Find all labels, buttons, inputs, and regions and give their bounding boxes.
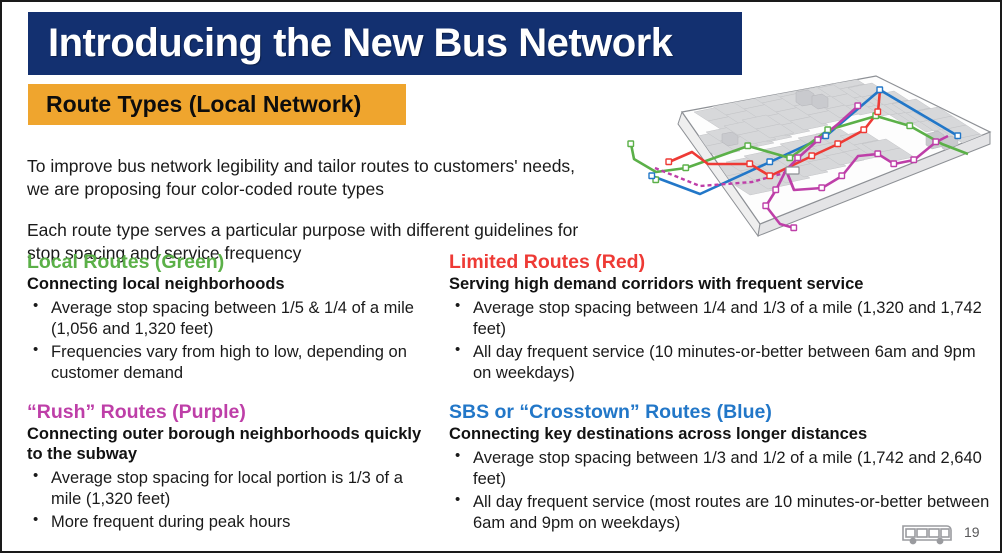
route-type-title-sbs: SBS or “Crosstown” Routes (Blue): [449, 401, 994, 423]
route-type-bullets-rush: Average stop spacing for local portion i…: [27, 468, 437, 532]
route-type-bullets-local: Average stop spacing between 1/5 & 1/4 o…: [27, 298, 437, 383]
list-item: Average stop spacing between 1/5 & 1/4 o…: [27, 298, 437, 340]
list-item: Average stop spacing between 1/3 and 1/2…: [449, 448, 994, 490]
route-type-bullets-limited: Average stop spacing between 1/4 and 1/3…: [449, 298, 994, 383]
route-type-subtitle-sbs: Connecting key destinations across longe…: [449, 425, 994, 445]
list-item: Average stop spacing for local portion i…: [27, 468, 437, 510]
list-item: More frequent during peak hours: [27, 512, 437, 533]
slide-canvas: Introducing the New Bus Network Route Ty…: [0, 0, 1002, 553]
route-type-subtitle-limited: Serving high demand corridors with frequ…: [449, 275, 994, 295]
route-type-title-rush: “Rush” Routes (Purple): [27, 401, 437, 423]
route-type-local: Local Routes (Green) Connecting local ne…: [27, 251, 437, 385]
slide-subtitle-banner: Route Types (Local Network): [28, 84, 406, 125]
intro-paragraph-1: To improve bus network legibility and ta…: [27, 155, 587, 202]
route-type-limited: Limited Routes (Red) Serving high demand…: [449, 251, 994, 385]
page-number: 19: [964, 524, 980, 540]
route-type-sbs: SBS or “Crosstown” Routes (Blue) Connect…: [449, 401, 994, 535]
bus-icon: [900, 521, 954, 552]
list-item: All day frequent service (10 minutes-or-…: [449, 342, 994, 384]
route-type-rush: “Rush” Routes (Purple) Connecting outer …: [27, 401, 437, 534]
route-type-title-limited: Limited Routes (Red): [449, 251, 994, 273]
route-type-title-local: Local Routes (Green): [27, 251, 437, 273]
page-title: Introducing the New Bus Network: [48, 21, 673, 66]
route-type-subtitle-local: Connecting local neighborhoods: [27, 275, 437, 295]
list-item: Frequencies vary from high to low, depen…: [27, 342, 437, 384]
list-item: Average stop spacing between 1/4 and 1/3…: [449, 298, 994, 340]
route-type-subtitle-rush: Connecting outer borough neighborhoods q…: [27, 425, 437, 465]
isometric-bus-network-map: [590, 64, 994, 249]
section-subtitle: Route Types (Local Network): [46, 91, 361, 118]
